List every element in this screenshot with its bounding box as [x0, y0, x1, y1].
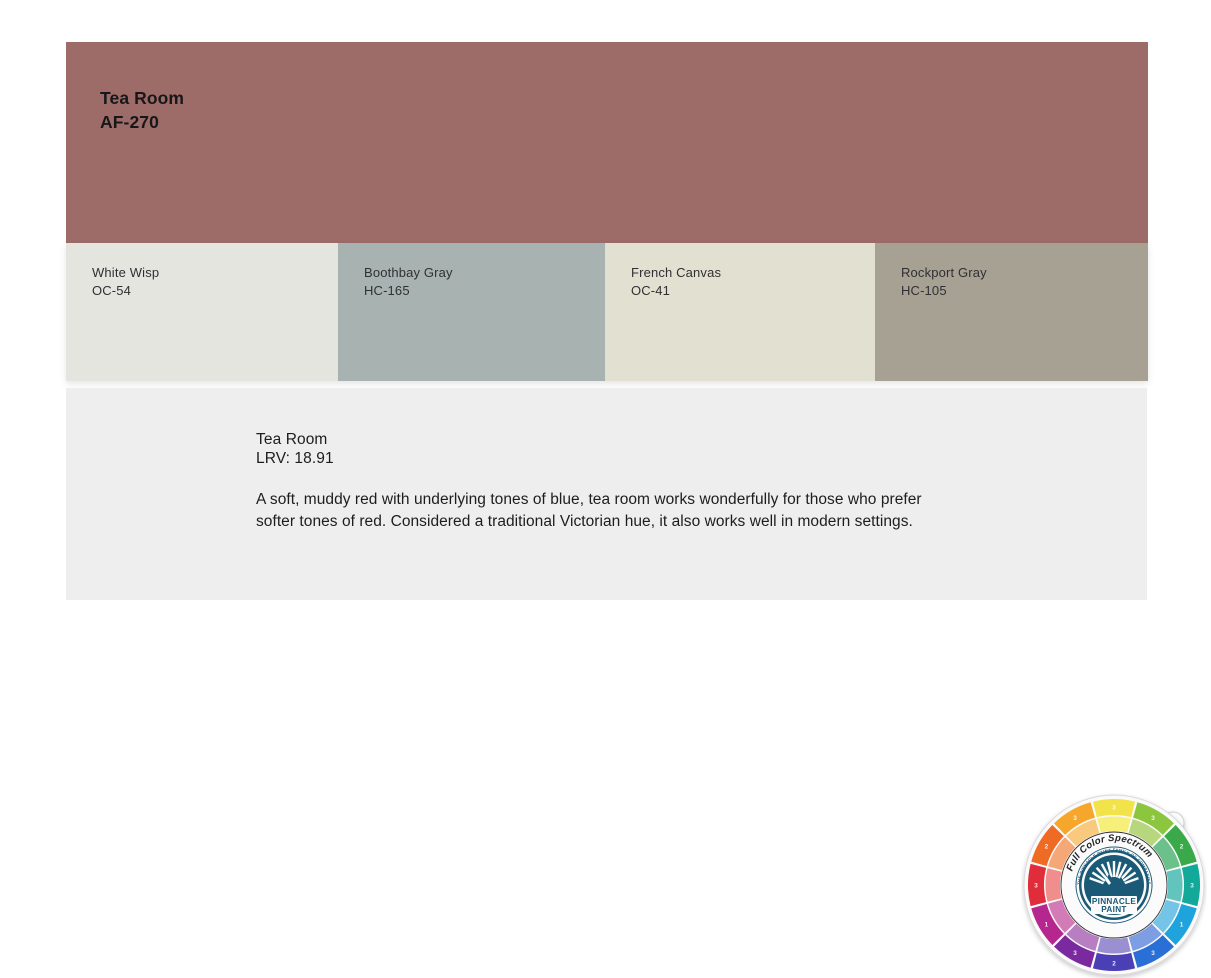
wheel-segment-number: 3 [1034, 883, 1038, 890]
wheel-segment-inner[interactable] [1166, 868, 1182, 902]
coordinating-swatch[interactable]: French CanvasOC-41 [605, 243, 875, 381]
swatch-color-name: French Canvas [631, 264, 721, 282]
swatch-color-code: HC-105 [901, 282, 947, 300]
brand-name-line-2: PAINT [1101, 905, 1126, 914]
swatch-color-code: OC-41 [631, 282, 670, 300]
coordinating-swatch[interactable]: Rockport GrayHC-105 [875, 243, 1148, 381]
hero-color-label: Tea Room AF-270 [100, 86, 184, 134]
coordinating-colors-row: White WispOC-54Boothbay GrayHC-165French… [66, 243, 1148, 381]
wheel-segment-number: 2 [1045, 844, 1049, 851]
wheel-segment-number: 1 [1180, 922, 1184, 929]
swatch-color-code: HC-165 [364, 282, 410, 300]
wheel-segment-number: 3 [1073, 815, 1077, 822]
swatch-color-name: White Wisp [92, 264, 159, 282]
hero-color-swatch[interactable]: Tea Room AF-270 [66, 42, 1148, 243]
wheel-segment-number: 3 [1151, 950, 1155, 957]
description-panel: Tea Room LRV: 18.91 A soft, muddy red wi… [66, 388, 1147, 600]
wheel-segment-number: 2 [1180, 844, 1184, 851]
wheel-segment-number: 3 [1151, 815, 1155, 822]
paint-color-detail-card: Tea Room AF-270 White WispOC-54Boothbay … [0, 0, 1211, 656]
wheel-segment-inner[interactable] [1097, 937, 1131, 953]
description-text-block: Tea Room LRV: 18.91 A soft, muddy red wi… [256, 430, 936, 532]
wheel-segment-number: 1 [1045, 922, 1049, 929]
description-paragraph: A soft, muddy red with underlying tones … [256, 489, 928, 532]
wheel-segment-number: 3 [1112, 805, 1116, 812]
brand-seal: THE PINNACLE PAINT FAMILY OF COMPANIES P… [1076, 847, 1152, 923]
wheel-segment-inner[interactable] [1097, 817, 1131, 833]
description-title: Tea Room [256, 430, 936, 449]
hero-color-name: Tea Room [100, 88, 184, 108]
swatch-color-name: Rockport Gray [901, 264, 987, 282]
color-wheel-icon[interactable]: 332313231323 Full Color Spectrum [1021, 792, 1207, 978]
swatch-color-code: OC-54 [92, 282, 131, 300]
wheel-segment-number: 3 [1073, 950, 1077, 957]
coordinating-swatch[interactable]: White WispOC-54 [66, 243, 338, 381]
lrv-value: LRV: 18.91 [256, 449, 936, 468]
swatch-color-name: Boothbay Gray [364, 264, 453, 282]
hero-color-code: AF-270 [100, 110, 184, 134]
wheel-segment-inner[interactable] [1046, 868, 1062, 902]
wheel-segment-number: 3 [1190, 883, 1194, 890]
coordinating-swatch[interactable]: Boothbay GrayHC-165 [338, 243, 605, 381]
wheel-segment-number: 2 [1112, 961, 1116, 968]
